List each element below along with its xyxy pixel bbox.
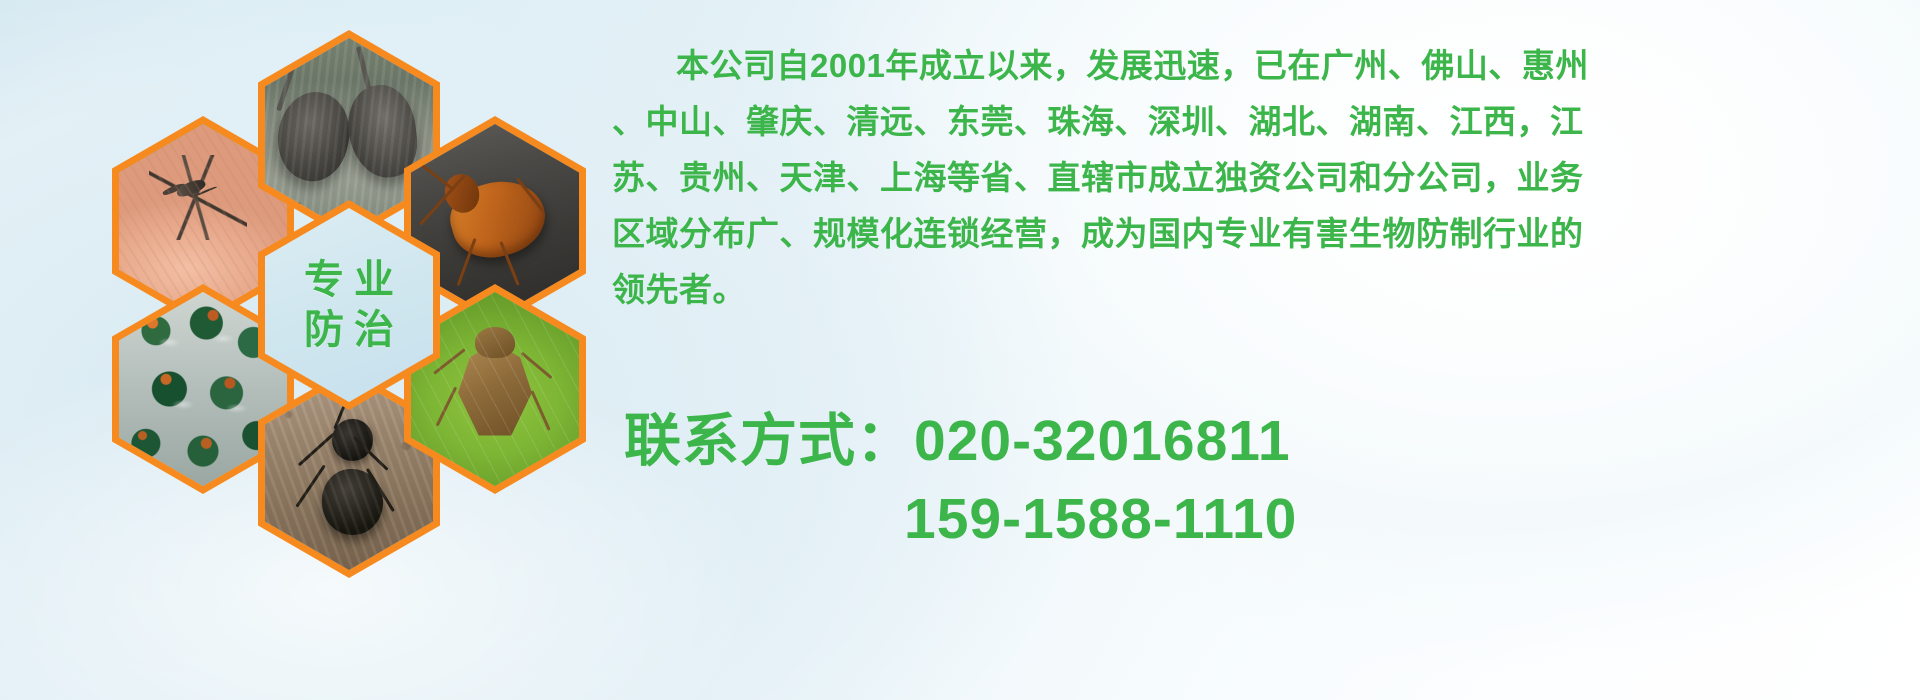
contact-info: 联系方式：020-32016811 159-1588-1110 — [624, 402, 1914, 558]
slogan-line-bottom: 防治 — [294, 310, 404, 350]
hexagon-photo-cluster: 专业 防治 — [78, 8, 598, 568]
description-line-1: 本公司自2001年成立以来，发展迅速，已在广州、佛山、惠州 — [612, 38, 1912, 94]
description-line-2: 、中山、肇庆、清远、东莞、珠海、深圳、湖北、湖南、江西，江 — [612, 94, 1912, 150]
promotional-banner: 专业 防治 本公司自2001年成立以来，发展迅速，已在广州、佛山、惠州 、中山、… — [0, 0, 1920, 700]
description-line-4: 区域分布广、规模化连锁经营，成为国内专业有害生物防制行业的 — [612, 206, 1912, 262]
description-line-3: 苏、贵州、天津、上海等省、直辖市成立独资公司和分公司，业务 — [612, 150, 1912, 206]
company-description: 本公司自2001年成立以来，发展迅速，已在广州、佛山、惠州 、中山、肇庆、清远、… — [612, 38, 1912, 318]
contact-phone-primary: 联系方式：020-32016811 — [624, 402, 1914, 480]
contact-phone-secondary: 159-1588-1110 — [624, 480, 1914, 558]
description-line-5: 领先者。 — [612, 262, 1912, 318]
slogan-line-top: 专业 — [294, 260, 404, 300]
